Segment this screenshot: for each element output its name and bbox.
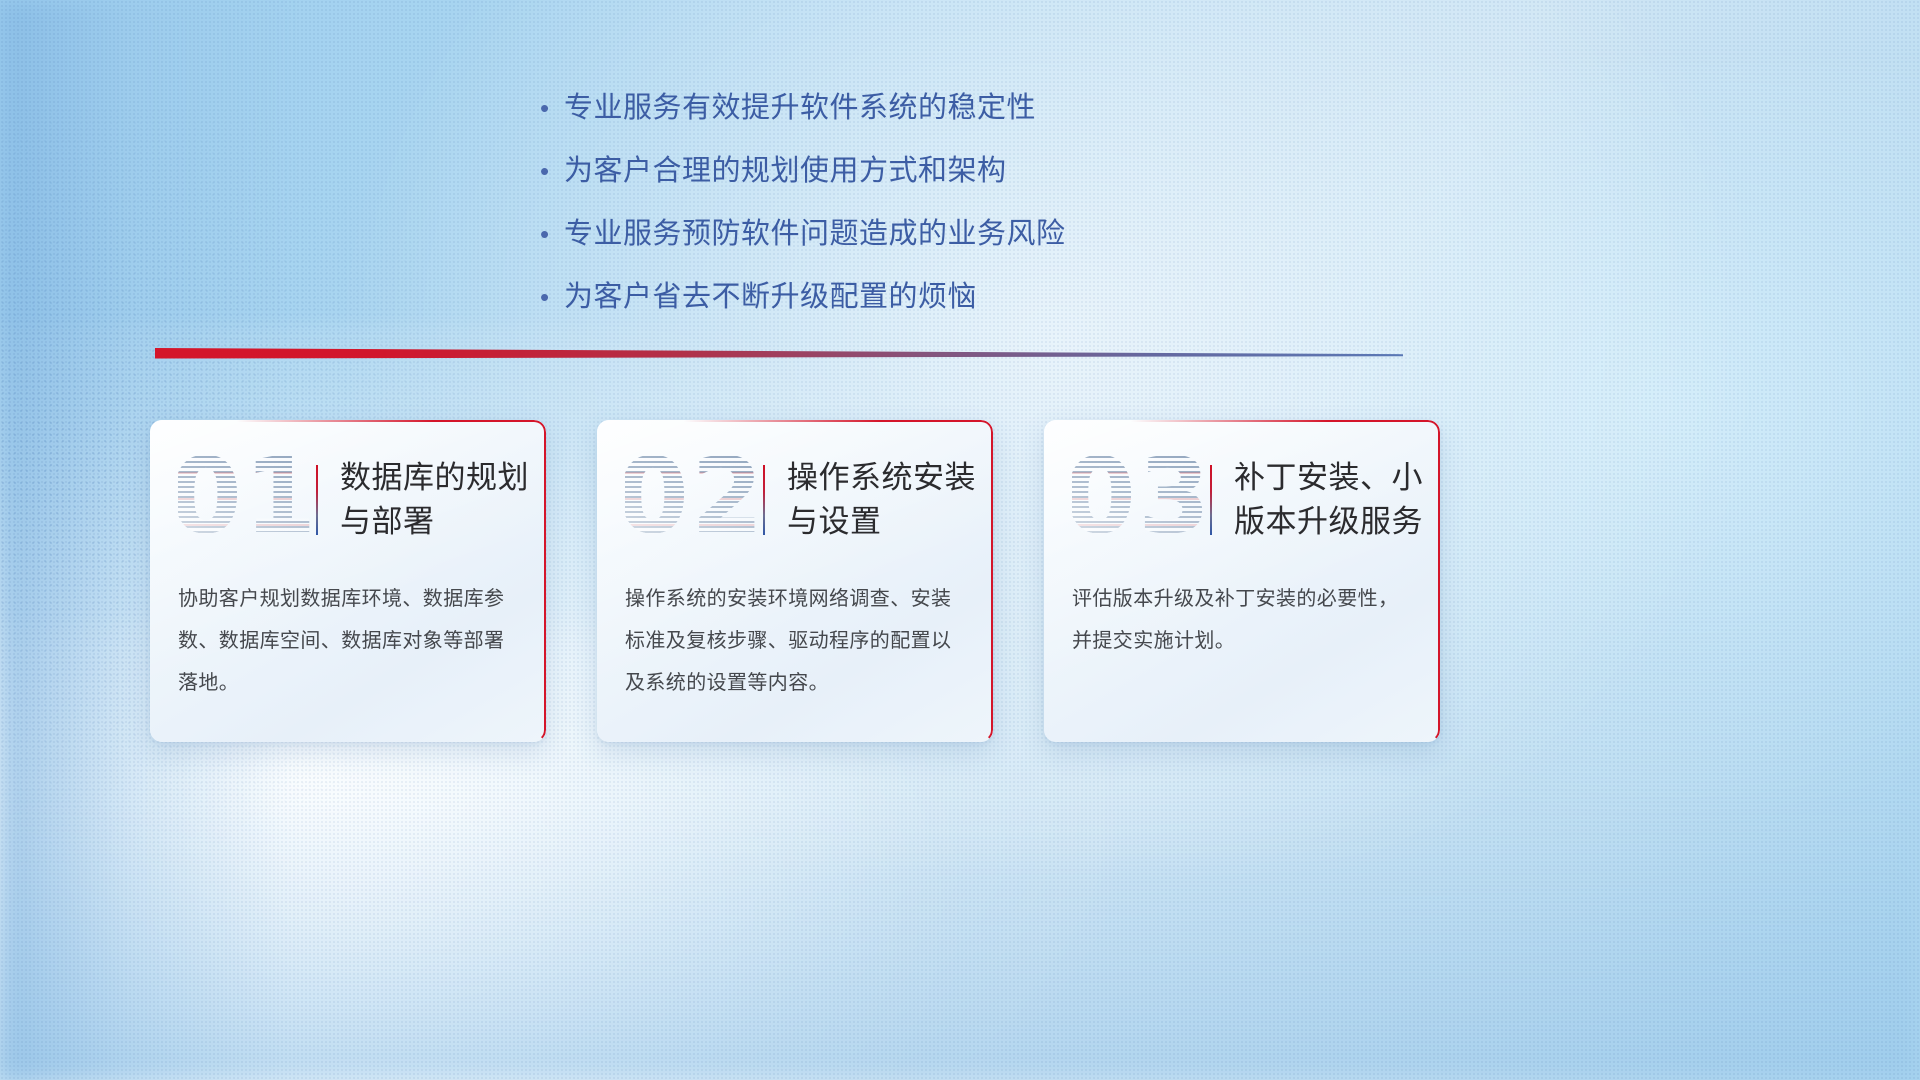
bullet-text: 专业服务预防软件问题造成的业务风险 (564, 214, 1066, 254)
card-body-text: 评估版本升级及补丁安装的必要性，并提交实施计划。 (1072, 578, 1414, 662)
card-body-text: 操作系统的安装环境网络调查、安装标准及复核步骤、驱动程序的配置以及系统的设置等内… (625, 578, 967, 704)
section-divider (155, 345, 1403, 365)
service-card[interactable]: 01 数据库的规划 与部署 协助客户规划数据库环境、数据库参数、数据库空间、数据… (150, 420, 546, 742)
card-title: 数据库的规划 与部署 (340, 456, 539, 544)
bullet-text: 专业服务有效提升软件系统的稳定性 (564, 88, 1036, 128)
card-title-rule (1210, 465, 1212, 535)
card-body-text: 协助客户规划数据库环境、数据库参数、数据库空间、数据库对象等部署落地。 (178, 578, 520, 704)
card-title: 操作系统安装 与设置 (787, 456, 986, 544)
watermark-fade (178, 446, 310, 554)
card-title-line-2: 与部署 (340, 500, 529, 544)
list-item: • 专业服务预防软件问题造成的业务风险 (540, 214, 1240, 254)
service-card[interactable]: 02 操作系统安装 与设置 操作系统的安装环境网络调查、安装标准及复核步骤、驱动… (597, 420, 993, 742)
card-number-watermark: 03 (1072, 446, 1204, 554)
service-card-group: 01 数据库的规划 与部署 协助客户规划数据库环境、数据库参数、数据库空间、数据… (150, 420, 1460, 750)
bullet-dot-icon: • (540, 277, 564, 317)
bullet-dot-icon: • (540, 151, 564, 191)
card-title-line-2: 版本升级服务 (1234, 500, 1423, 544)
card-number-watermark: 01 (178, 446, 310, 554)
card-header: 01 数据库的规划 与部署 (150, 434, 546, 566)
card-title-line-1: 数据库的规划 (340, 456, 529, 500)
card-title: 补丁安装、小 版本升级服务 (1234, 456, 1433, 544)
bullet-dot-icon: • (540, 214, 564, 254)
card-title-rule (763, 465, 765, 535)
card-title-line-1: 补丁安装、小 (1234, 456, 1423, 500)
list-item: • 为客户合理的规划使用方式和架构 (540, 151, 1240, 191)
service-card[interactable]: 03 补丁安装、小 版本升级服务 评估版本升级及补丁安装的必要性，并提交实施计划… (1044, 420, 1440, 742)
watermark-fade (625, 446, 757, 554)
bullet-text: 为客户合理的规划使用方式和架构 (564, 151, 1007, 191)
card-header: 02 操作系统安装 与设置 (597, 434, 993, 566)
watermark-fade (1072, 446, 1204, 554)
card-title-line-1: 操作系统安装 (787, 456, 976, 500)
bullet-text: 为客户省去不断升级配置的烦恼 (564, 277, 977, 317)
bullet-dot-icon: • (540, 88, 564, 128)
list-item: • 为客户省去不断升级配置的烦恼 (540, 277, 1240, 317)
card-title-rule (316, 465, 318, 535)
benefits-bullet-list: • 专业服务有效提升软件系统的稳定性 • 为客户合理的规划使用方式和架构 • 专… (540, 88, 1240, 340)
card-number-watermark: 02 (625, 446, 757, 554)
divider-wedge-shape (155, 345, 1403, 365)
card-title-line-2: 与设置 (787, 500, 976, 544)
card-header: 03 补丁安装、小 版本升级服务 (1044, 434, 1440, 566)
list-item: • 专业服务有效提升软件系统的稳定性 (540, 88, 1240, 128)
